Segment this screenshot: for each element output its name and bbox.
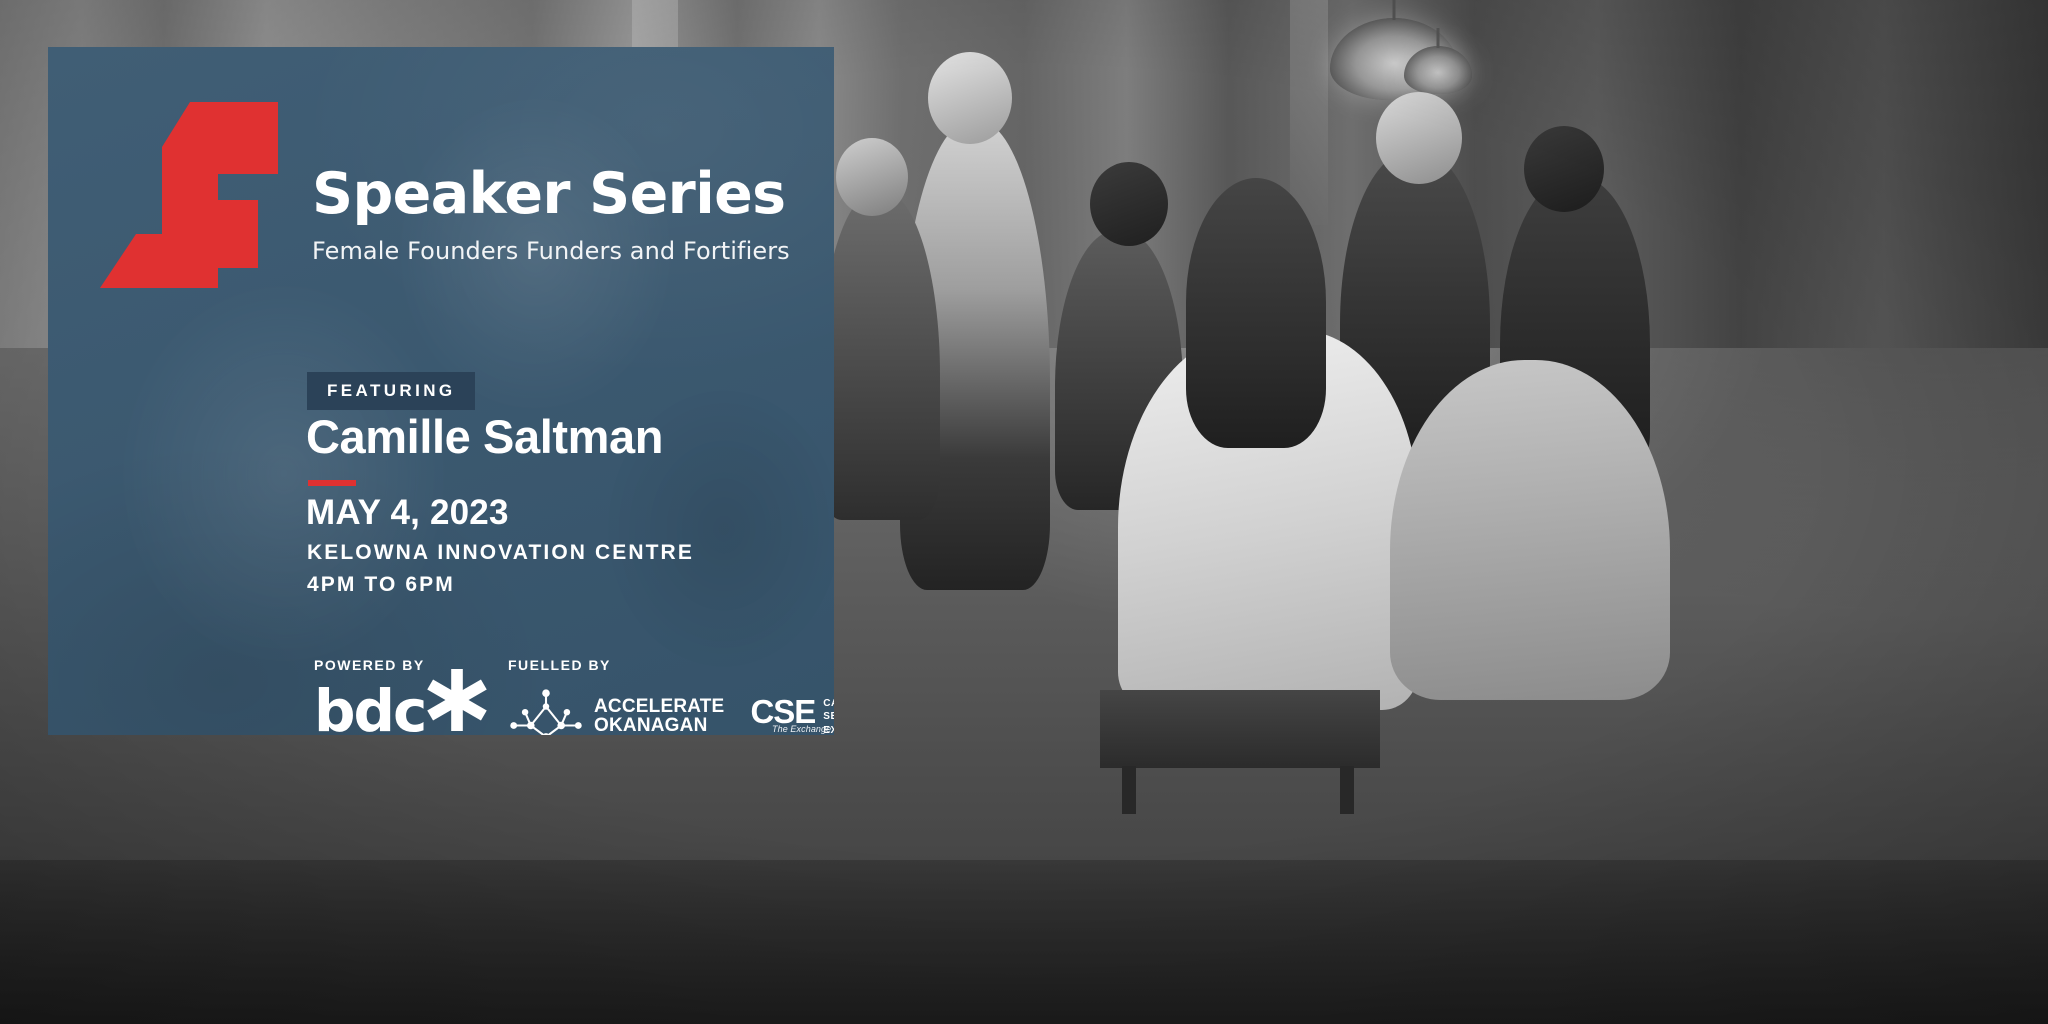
sponsor-label-fuelled-by: FUELLED BY: [508, 657, 834, 673]
sponsor-bdc: POWERED BY bdc: [314, 657, 425, 735]
event-card: Speaker Series Female Founders Funders a…: [48, 47, 834, 735]
cse-line-1: CANADIAN: [823, 697, 834, 711]
sponsor-fuelled-by-group: FUELLED BY: [508, 657, 834, 735]
cse-mark: CSE: [750, 695, 815, 728]
accelerate-okanagan-wordmark: ACCELERATE OKANAGAN: [594, 697, 724, 735]
bdc-wordmark: bdc: [314, 685, 425, 735]
bdc-logo: bdc: [314, 685, 425, 735]
cse-line-2: SECURITIES: [823, 710, 834, 724]
page-title: Speaker Series: [312, 166, 790, 223]
event-date: MAY 4, 2023: [306, 493, 509, 533]
accelerate-okanagan-logo: ACCELERATE OKANAGAN: [508, 687, 724, 735]
cse-tagline: The Exchange For Entrepreneurs: [772, 724, 834, 735]
featuring-badge: FEATURING: [307, 372, 475, 410]
ao-line-1: ACCELERATE: [594, 697, 724, 716]
stylized-f-logo: [100, 92, 278, 288]
page-subtitle: Female Founders Funders and Fortifiers: [312, 237, 790, 265]
speaker-name: Camille Saltman: [306, 411, 663, 463]
sponsor-row: POWERED BY bdc FUELLED BY: [306, 657, 826, 735]
title-block: Speaker Series Female Founders Funders a…: [312, 166, 790, 265]
venue-block: KELOWNA INNOVATION CENTRE 4PM TO 6PM: [307, 537, 694, 600]
cse-mark-wrap: CSE: [750, 695, 815, 728]
sponsor-label-powered-by: POWERED BY: [314, 657, 425, 673]
red-divider-rule: [308, 480, 356, 486]
venue-name: KELOWNA INNOVATION CENTRE: [307, 537, 694, 569]
event-time: 4PM TO 6PM: [307, 569, 694, 601]
ao-line-2: OKANAGAN: [594, 716, 724, 735]
network-node-icon: [508, 687, 584, 735]
asterisk-icon: [426, 669, 488, 731]
